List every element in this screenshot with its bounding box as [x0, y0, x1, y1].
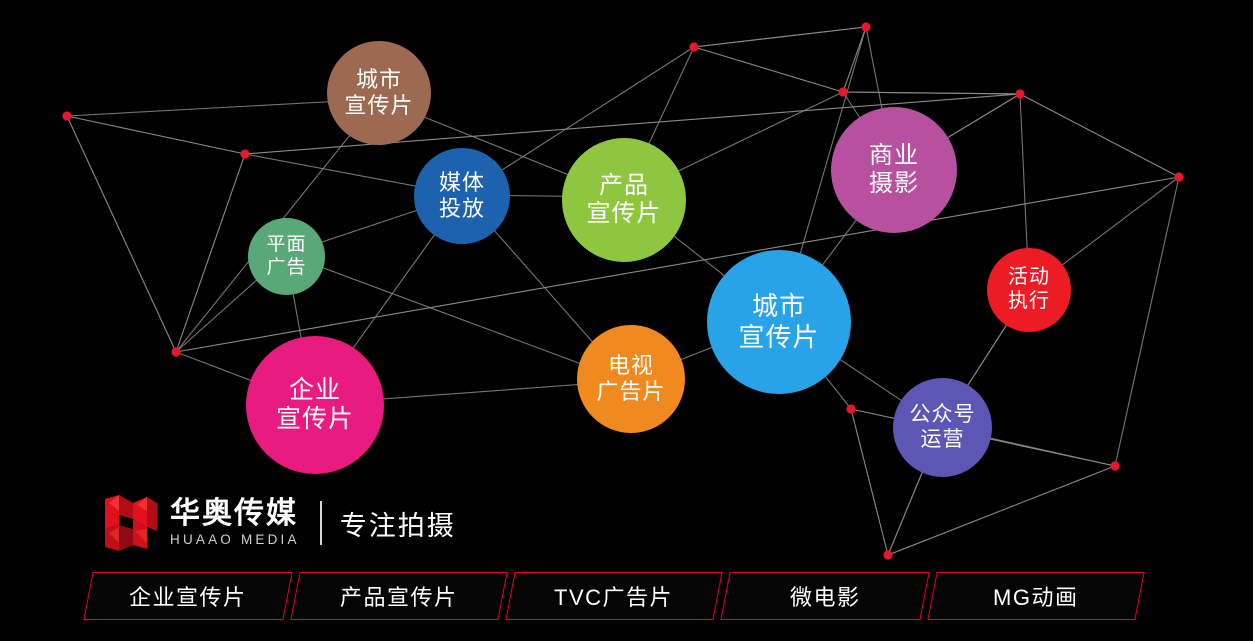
network-edge: [67, 116, 245, 154]
tab-product-promo[interactable]: 产品宣传片: [290, 572, 507, 620]
node-bottom-dot: [883, 550, 892, 559]
node-left-mid-dot: [171, 347, 180, 356]
bubble-label-line: 宣传片: [738, 322, 819, 353]
network-edge: [176, 154, 245, 352]
tab-mg-animation[interactable]: MG动画: [927, 572, 1144, 620]
logo-divider: [320, 501, 322, 545]
bubble-label-line: 城市: [752, 291, 806, 322]
node-left-top-dot: [62, 111, 71, 120]
node-right-mid-dot: [1174, 172, 1183, 181]
brand-logo: 华奥传媒 HUAAO MEDIA 专注拍摄: [103, 492, 456, 554]
bubble-commercial-photo[interactable]: 商业摄影: [831, 107, 957, 233]
bubble-label-line: 企业: [289, 376, 341, 406]
bubble-label-line: 宣传片: [276, 405, 354, 435]
presentation-slide: 城市宣传片媒体投放平面广告产品宣传片商业摄影活动执行城市宣传片电视广告片企业宣传…: [0, 0, 1253, 641]
bubble-label-line: 城市: [356, 67, 402, 93]
node-upper-left-dot: [240, 149, 249, 158]
bubble-print-ad[interactable]: 平面广告: [248, 218, 325, 295]
network-edge: [694, 27, 866, 47]
bubble-media-placement[interactable]: 媒体投放: [414, 148, 510, 244]
bubble-label-line: 电视: [608, 353, 654, 379]
bubble-wechat-operation[interactable]: 公众号运营: [893, 378, 992, 477]
bubble-label-line: 宣传片: [344, 93, 413, 119]
network-edge: [1020, 94, 1179, 177]
tab-enterprise-promo[interactable]: 企业宣传片: [83, 572, 292, 620]
bubble-label-line: 商业: [869, 142, 919, 170]
node-lower-right-dot: [1110, 461, 1119, 470]
bubble-event-execution[interactable]: 活动执行: [987, 248, 1071, 332]
tab-label: MG动画: [993, 580, 1078, 612]
bubble-label-line: 摄影: [869, 170, 919, 198]
tab-label: TVC广告片: [554, 580, 673, 612]
huaao-h-logo-icon: [103, 493, 159, 553]
logo-chinese-name: 华奥传媒: [170, 498, 300, 530]
bubble-label-line: 平面: [266, 234, 306, 256]
tab-label: 微电影: [790, 580, 861, 612]
logo-english-name: HUAAO MEDIA: [170, 532, 300, 548]
bubble-label-line: 广告片: [596, 379, 665, 405]
bubble-enterprise-promo[interactable]: 企业宣传片: [246, 336, 384, 474]
network-edge: [843, 92, 1020, 94]
service-tab-bar: 企业宣传片产品宣传片TVC广告片微电影MG动画: [88, 572, 1140, 620]
bubble-tv-ad[interactable]: 电视广告片: [577, 325, 685, 433]
node-right-upper-dot: [1015, 89, 1024, 98]
bubble-product-promo[interactable]: 产品宣传片: [562, 138, 686, 262]
node-top-mid-right-dot: [838, 87, 847, 96]
bubble-label-line: 活动: [1008, 266, 1050, 290]
network-edge: [1115, 177, 1179, 466]
node-top-center-dot: [689, 42, 698, 51]
bubble-label-line: 投放: [439, 196, 485, 222]
network-edge: [67, 116, 176, 352]
tab-label: 企业宣传片: [129, 580, 247, 612]
network-edge: [843, 27, 866, 92]
tab-micro-film[interactable]: 微电影: [720, 572, 929, 620]
node-lower-mid-dot: [846, 404, 855, 413]
logo-tagline: 专注拍摄: [340, 504, 456, 543]
bubble-city-promo-brown[interactable]: 城市宣传片: [327, 41, 431, 145]
bubble-city-promo-blue[interactable]: 城市宣传片: [707, 250, 851, 394]
bubble-label-line: 公众号: [910, 403, 976, 428]
node-top-right-dot: [861, 22, 870, 31]
network-edge: [694, 47, 843, 92]
tab-tvc-ad[interactable]: TVC广告片: [505, 572, 722, 620]
bubble-label-line: 媒体: [439, 170, 485, 196]
network-edge: [888, 466, 1115, 555]
logo-wordmark: 华奥传媒 HUAAO MEDIA: [170, 494, 300, 552]
bubble-label-line: 宣传片: [587, 200, 662, 228]
bubble-label-line: 广告: [266, 257, 306, 279]
tab-label: 产品宣传片: [340, 580, 458, 612]
bubble-label-line: 产品: [599, 172, 649, 200]
network-edge: [851, 409, 888, 555]
bubble-label-line: 执行: [1008, 290, 1050, 314]
bubble-label-line: 运营: [921, 428, 965, 453]
